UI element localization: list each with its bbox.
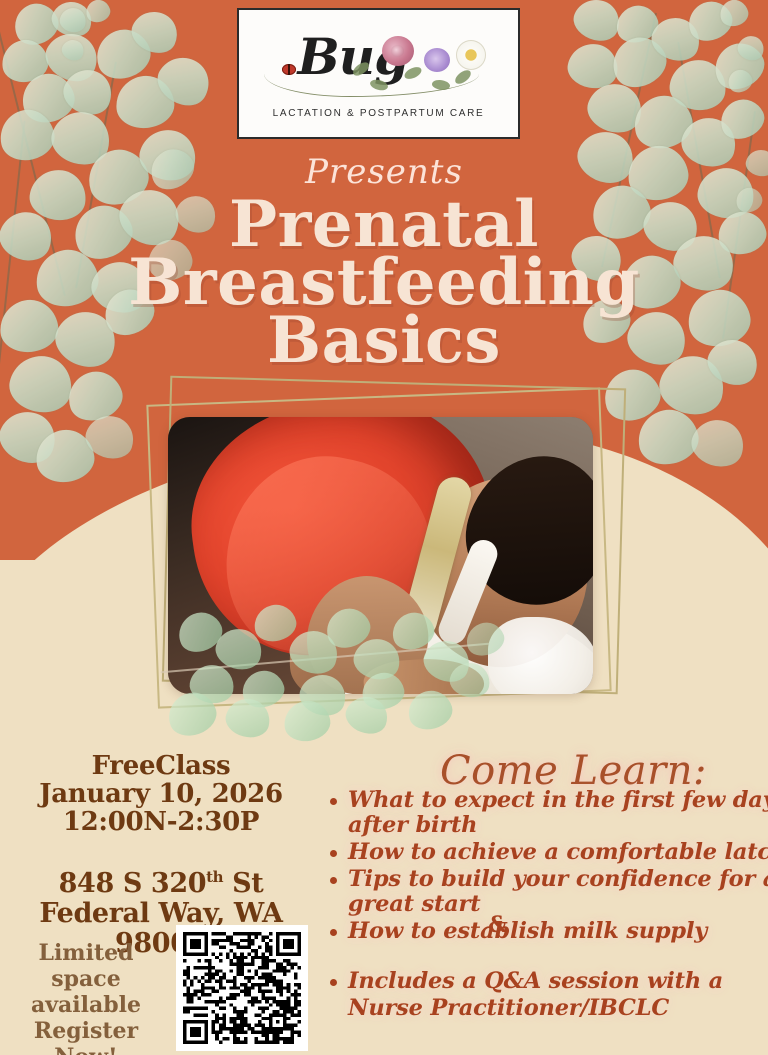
address-line-1: 848 S 320th St <box>0 862 322 899</box>
photo-overlay-leaf <box>462 617 509 660</box>
learn-bullet-item: Tips to build your confidence for a grea… <box>348 867 768 917</box>
qr-code[interactable] <box>176 925 308 1051</box>
qr-code-canvas[interactable] <box>183 932 301 1044</box>
logo-artwork: Bug <box>254 28 504 106</box>
page-title: Prenatal Breastfeeding Basics <box>0 196 768 370</box>
qa-session-bullet: Includes a Q&A session with a Nurse Prac… <box>318 968 768 1022</box>
address-ordinal: th <box>206 868 223 886</box>
event-date: January 10, 2026 <box>0 780 322 808</box>
brand-tagline: LACTATION & POSTPARTUM CARE <box>273 108 485 119</box>
registration-callout: Limited space available Register Now! <box>2 940 170 1055</box>
ampersand-separator: & <box>318 912 678 938</box>
event-when: FreeClass January 10, 2026 12:00N-2:30P <box>0 752 322 836</box>
daisy-flower-icon <box>456 40 486 70</box>
presents-label: Presents <box>0 152 768 192</box>
register-line-1: Limited space <box>2 940 170 992</box>
event-time: 12:00N-2:30P <box>0 808 322 836</box>
register-line-3: Register Now! <box>2 1018 170 1055</box>
brand-logo-card: Bug LACTATION & POSTPARTUM CARE <box>237 8 520 139</box>
register-line-2: available <box>2 992 170 1018</box>
free-class-label: FreeClass <box>0 752 322 780</box>
flyer-canvas: Bug LACTATION & POSTPARTUM CARE Presents… <box>0 0 768 1055</box>
learn-bullet-item: How to achieve a comfortable latch <box>348 840 768 865</box>
violet-flower-icon <box>424 48 450 72</box>
learn-bullet-item: What to expect in the first few days aft… <box>348 788 768 838</box>
photo-leaf-overlay <box>150 595 620 725</box>
rose-flower-icon <box>382 36 414 66</box>
address-street-number: 848 S 320 <box>59 868 206 899</box>
title-line-3: Basics <box>0 312 768 370</box>
address-street-suffix: St <box>223 868 263 899</box>
